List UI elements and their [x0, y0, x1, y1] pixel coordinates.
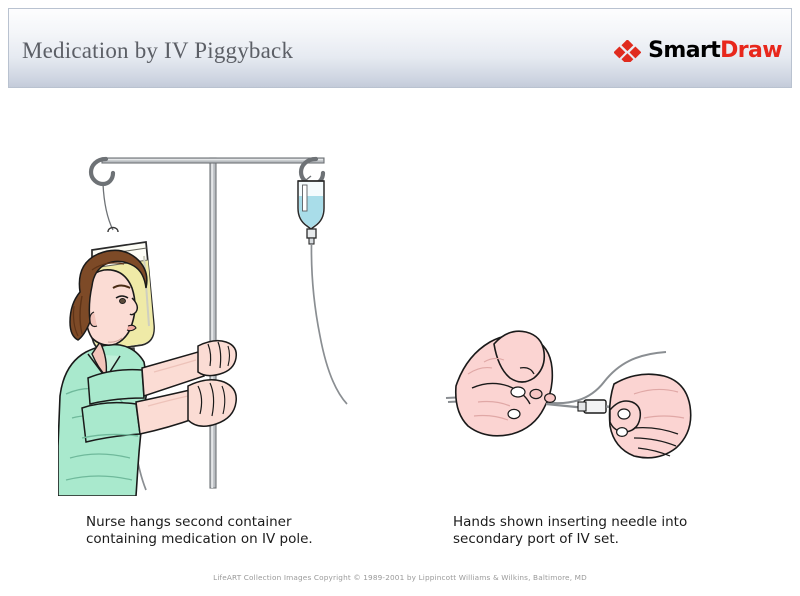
- caption-nurse: Nurse hangs second container containing …: [86, 514, 406, 548]
- logo-word-smart: Smart: [648, 38, 720, 63]
- nurse-hanging-iv-container-illustration: [58, 146, 398, 496]
- smartdraw-diamonds-icon: [614, 40, 641, 62]
- bottle-hanger-cord: [103, 184, 113, 230]
- smartdraw-logo[interactable]: SmartDraw: [614, 40, 782, 62]
- copyright-credit: LifeART Collection Images Copyright © 19…: [0, 573, 800, 582]
- right-hand: [610, 374, 691, 458]
- smartdraw-wordmark: SmartDraw: [648, 40, 782, 62]
- caption-hands: Hands shown inserting needle into second…: [453, 514, 773, 548]
- hands-inserting-needle-illustration: [438, 322, 694, 474]
- iv-bag-on-pole: [298, 176, 324, 244]
- logo-word-draw: Draw: [720, 38, 782, 63]
- iv-tubing-right: [311, 244, 347, 404]
- page-title: Medication by IV Piggyback: [22, 38, 293, 64]
- left-hand: [456, 331, 556, 436]
